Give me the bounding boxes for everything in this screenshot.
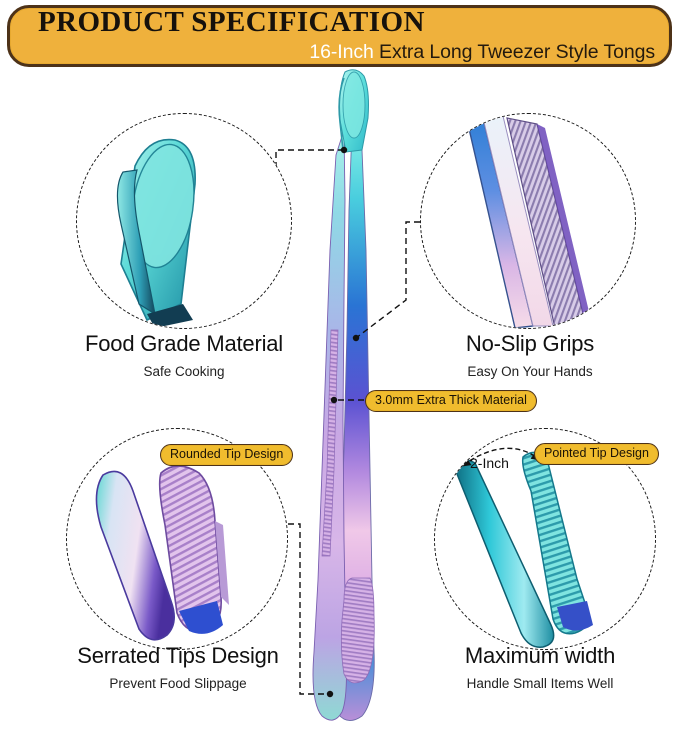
feature-circle-no-slip-grips[interactable] [420,113,636,329]
caption-subtitle: Prevent Food Slippage [38,676,318,691]
leader-endpoints [327,147,359,697]
caption-maximum-width: Maximum width Handle Small Items Well [400,643,679,691]
caption-no-slip-grips: No-Slip Grips Easy On Your Hands [390,331,670,379]
infographic-canvas: PRODUCT SPECIFICATION 16-Inch Extra Long… [0,0,679,747]
subtitle-highlight: 16-Inch [309,41,373,63]
tong-head-highlight [343,72,365,138]
feature-circle-food-grade-material[interactable] [76,113,292,329]
food-grade-zoom-image [77,114,292,329]
header-banner: PRODUCT SPECIFICATION 16-Inch Extra Long… [7,5,672,67]
caption-title: Serrated Tips Design [38,643,318,669]
tong-arm-left [313,130,347,720]
leader-dot-serrated [327,691,333,697]
subtitle-rest: Extra Long Tweezer Style Tongs [374,41,655,63]
caption-title: Food Grade Material [44,331,324,357]
leader-dot-no-slip [353,335,359,341]
no-slip-zoom-image [421,114,636,329]
callout-badge-thick-material[interactable]: 3.0mm Extra Thick Material [365,390,537,412]
caption-subtitle: Handle Small Items Well [400,676,679,691]
leader-dot-thick [331,397,337,403]
tong-head-edge [339,78,344,150]
caption-food-grade-material: Food Grade Material Safe Cooking [44,331,324,379]
serrated-tip-main [341,578,374,683]
leader-no-slip [356,222,420,338]
grip-ribbing-shaft [322,330,338,556]
callout-badge-rounded-tip[interactable]: Rounded Tip Design [160,444,293,466]
caption-serrated-tips-design: Serrated Tips Design Prevent Food Slippa… [38,643,318,691]
page-title: PRODUCT SPECIFICATION [38,6,425,39]
caption-title: Maximum width [400,643,679,669]
caption-title: No-Slip Grips [390,331,670,357]
page-subtitle: 16-Inch Extra Long Tweezer Style Tongs [309,41,655,64]
tong-arm-right [333,128,375,721]
callout-badge-pointed-tip[interactable]: Pointed Tip Design [534,443,659,465]
tong-head [340,70,369,152]
caption-subtitle: Safe Cooking [44,364,324,379]
caption-subtitle: Easy On Your Hands [390,364,670,379]
leader-dot-food-grade [341,147,347,153]
measurement-label-tip-width: 2-Inch [470,455,509,471]
